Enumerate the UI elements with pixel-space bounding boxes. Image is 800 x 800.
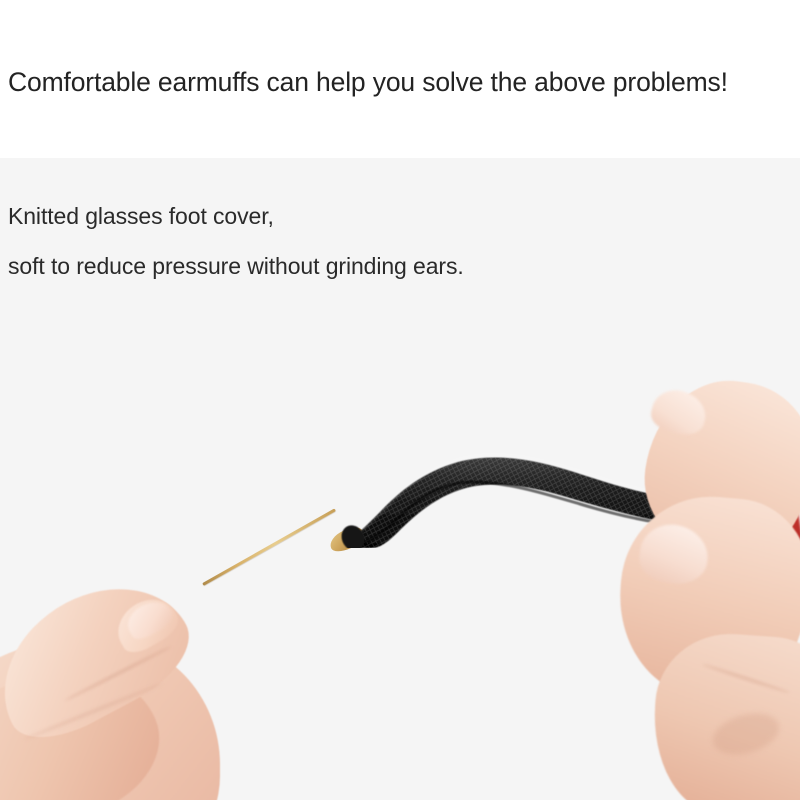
page-title: Comfortable earmuffs can help you solve …: [8, 65, 800, 99]
description-line-2: soft to reduce pressure without grinding…: [8, 252, 708, 281]
product-detail-page: Comfortable earmuffs can help you solve …: [0, 0, 800, 800]
headline-band: Comfortable earmuffs can help you solve …: [0, 0, 800, 158]
left-hand: [0, 560, 330, 800]
right-hand: [612, 385, 800, 800]
description-line-1: Knitted glasses foot cover,: [8, 202, 708, 231]
description-block: Knitted glasses foot cover, soft to redu…: [8, 202, 708, 281]
